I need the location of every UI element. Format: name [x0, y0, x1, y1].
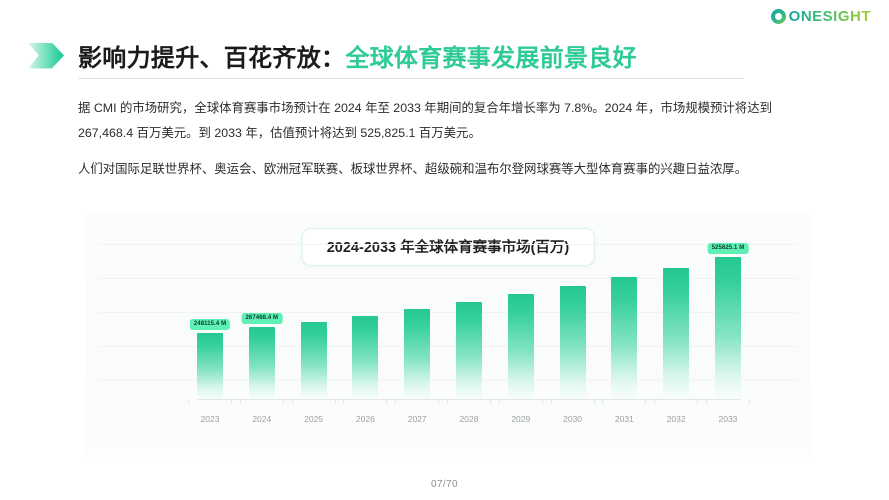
x-tick [715, 400, 741, 405]
body-paragraph-2: 人们对国际足联世界杯、奥运会、欧洲冠军联赛、板球世界杯、超级碗和温布尔登网球赛等… [78, 157, 816, 182]
x-tick [560, 400, 586, 405]
chart-card: 2024-2033 年全球体育赛事市场(百万) 248115.4 M267468… [85, 212, 811, 462]
brand-name: ONESIGHT [789, 8, 871, 25]
body-copy: 据 CMI 的市场研究，全球体育赛事市场预计在 2024 年至 2033 年期间… [78, 96, 816, 182]
x-tick [508, 400, 534, 405]
x-tick-label: 2025 [301, 414, 327, 424]
bar-value-label: 525825.1 M [708, 243, 749, 254]
x-tick [611, 400, 637, 405]
x-tick-label: 2026 [352, 414, 378, 424]
x-tick-label: 2031 [611, 414, 637, 424]
x-tick-label: 2024 [249, 414, 275, 424]
page-number: 07/70 [0, 479, 889, 490]
headline-row: 影响力提升、百花齐放：全球体育赛事发展前景良好 [28, 38, 637, 73]
bar[interactable] [611, 277, 637, 400]
page-title: 影响力提升、百花齐放：全球体育赛事发展前景良好 [78, 38, 637, 73]
headline-divider [78, 78, 744, 79]
bar[interactable] [249, 327, 275, 400]
x-tick-label: 2023 [197, 414, 223, 424]
chevron-right-icon [28, 43, 64, 69]
bar[interactable] [715, 257, 741, 400]
brand-logo: ONESIGHT [771, 8, 871, 25]
bar[interactable] [663, 268, 689, 400]
x-tick [197, 400, 223, 405]
bar[interactable] [508, 294, 534, 400]
bar[interactable] [352, 316, 378, 400]
bar-value-label: 267468.4 M [241, 313, 282, 324]
bar[interactable] [301, 322, 327, 400]
onesight-circle-logo-icon [771, 9, 786, 24]
chart-x-tick-labels: 2023202420252026202720282029203020312032… [197, 414, 741, 424]
page-title-lead: 影响力提升、百花齐放： [78, 45, 345, 72]
x-tick [456, 400, 482, 405]
bar[interactable] [197, 333, 223, 400]
x-tick-label: 2032 [663, 414, 689, 424]
bar[interactable] [560, 286, 586, 400]
x-tick [249, 400, 275, 405]
x-tick-label: 2027 [404, 414, 430, 424]
x-tick [663, 400, 689, 405]
chart-x-ticks [197, 400, 741, 405]
x-tick-label: 2030 [560, 414, 586, 424]
slide-canvas: ONESIGHT 影响力提升、百花齐放：全球体育赛事发展前景良好 据 CMI 的… [0, 0, 889, 500]
x-tick [404, 400, 430, 405]
x-tick-label: 2029 [508, 414, 534, 424]
x-tick-label: 2033 [715, 414, 741, 424]
x-tick [352, 400, 378, 405]
x-tick [301, 400, 327, 405]
x-tick-label: 2028 [456, 414, 482, 424]
bar[interactable] [456, 302, 482, 400]
bar-value-label: 248115.4 M [190, 319, 230, 330]
page-title-accent: 全球体育赛事发展前景良好 [345, 45, 637, 72]
bar[interactable] [404, 309, 430, 400]
chart-plot-area: 248115.4 M267468.4 M525825.1 M 202320242… [99, 226, 797, 432]
body-paragraph-1: 据 CMI 的市场研究，全球体育赛事市场预计在 2024 年至 2033 年期间… [78, 96, 816, 146]
